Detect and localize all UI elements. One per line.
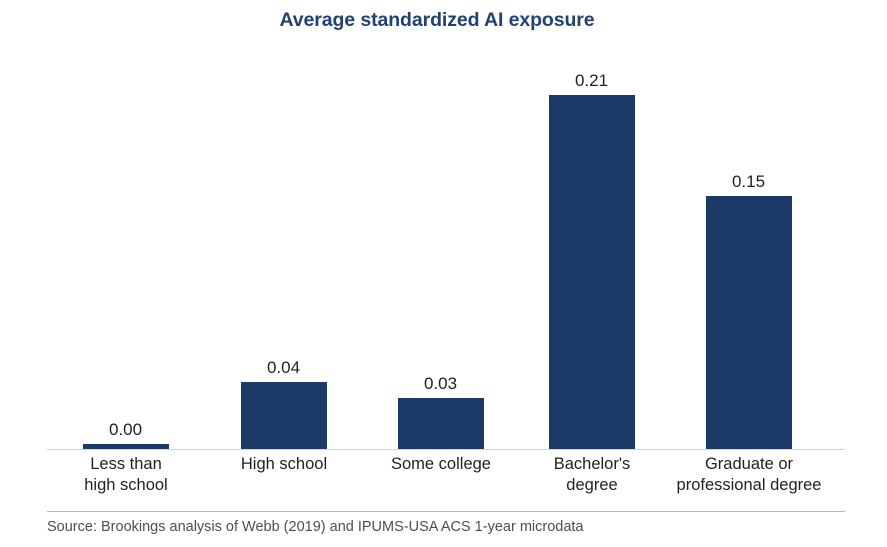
x-axis-line: [47, 449, 845, 450]
x-axis-label-line1: Less than: [90, 455, 162, 473]
x-axis-label-bachelors-degree: Bachelor's degree: [502, 454, 682, 496]
plot-area: 0.00 0.04 0.03 0.21 0.15: [47, 45, 845, 449]
bar-group-less-than-high-school: 0.00: [47, 45, 204, 449]
x-axis-label-graduate-or-professional-degree: Graduate or professional degree: [659, 454, 839, 496]
bar-group-some-college: 0.03: [362, 45, 519, 449]
footer-divider: [47, 511, 845, 512]
x-axis-label-line1: High school: [241, 455, 327, 473]
bar-value-label: 0.04: [267, 358, 300, 378]
x-axis-label-high-school: High school: [194, 454, 374, 475]
x-axis-label-line2: professional degree: [659, 475, 839, 496]
bar-group-high-school: 0.04: [205, 45, 362, 449]
source-note: Source: Brookings analysis of Webb (2019…: [47, 518, 583, 537]
bar-rect[interactable]: [241, 382, 327, 449]
bar-value-label: 0.15: [732, 172, 765, 192]
bar-group-graduate-or-professional-degree: 0.15: [670, 45, 827, 449]
bar-chart: Average standardized AI exposure 0.00 0.…: [0, 0, 887, 547]
x-axis-label-line2: high school: [36, 475, 216, 496]
bar-value-label: 0.00: [109, 420, 142, 440]
bar-rect[interactable]: [398, 398, 484, 449]
x-axis-label-line1: Bachelor's: [554, 455, 631, 473]
bar-group-bachelors-degree: 0.21: [513, 45, 670, 449]
bar-rect[interactable]: [549, 95, 635, 449]
bar-value-label: 0.21: [575, 71, 608, 91]
x-axis-label-less-than-high-school: Less than high school: [36, 454, 216, 496]
x-axis-label-line1: Graduate or: [705, 455, 793, 473]
chart-title: Average standardized AI exposure: [0, 8, 874, 32]
x-axis-category-labels: Less than high school High school Some c…: [47, 454, 845, 504]
bar-rect[interactable]: [706, 196, 792, 449]
bar-value-label: 0.03: [424, 374, 457, 394]
x-axis-label-line2: degree: [502, 475, 682, 496]
x-axis-label-line1: Some college: [391, 455, 491, 473]
